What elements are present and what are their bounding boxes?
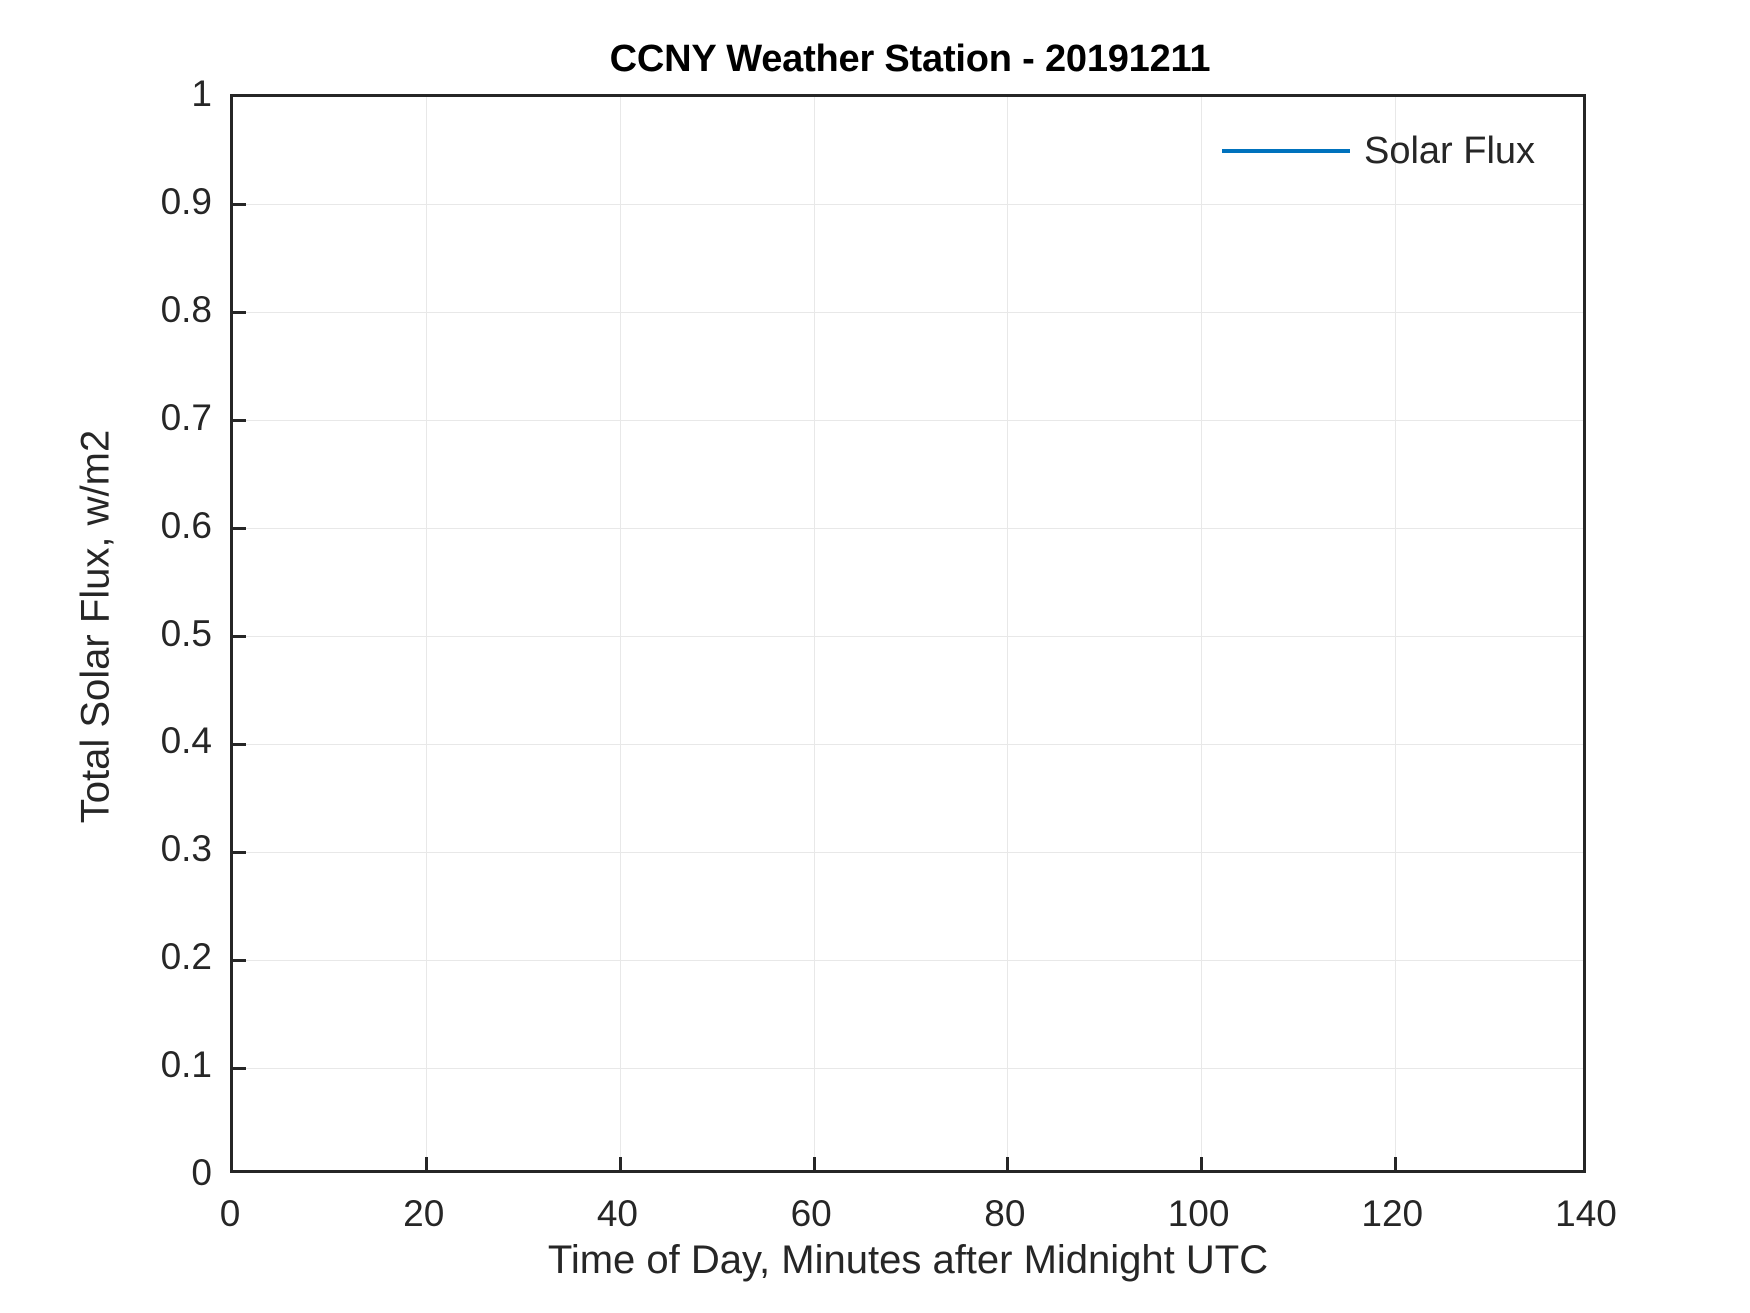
x-axis-tick: [619, 1157, 622, 1170]
x-tick-label: 120: [1292, 1195, 1492, 1232]
y-tick-label: 1: [12, 75, 212, 112]
y-tick-label: 0.8: [12, 291, 212, 328]
y-tick-label: 0.9: [12, 183, 212, 220]
x-tick-label: 60: [711, 1195, 911, 1232]
x-axis-tick: [425, 1157, 428, 1170]
x-axis-tick: [1394, 1157, 1397, 1170]
x-tick-label: 80: [905, 1195, 1105, 1232]
y-axis-tick: [233, 1067, 246, 1070]
plot-area: [230, 94, 1586, 1173]
x-tick-label: 100: [1099, 1195, 1299, 1232]
y-tick-label: 0.3: [12, 830, 212, 867]
legend-label-solar-flux: Solar Flux: [1364, 132, 1535, 170]
y-tick-label: 0.4: [12, 722, 212, 759]
x-tick-label: 0: [130, 1195, 330, 1232]
y-tick-label: 0: [12, 1154, 212, 1191]
y-tick-label: 0.6: [12, 507, 212, 544]
chart-title: CCNY Weather Station - 20191211: [230, 38, 1590, 81]
legend-line-swatch-solar-flux: [1222, 149, 1350, 153]
y-axis-tick: [233, 635, 246, 638]
y-tick-label: 0.2: [12, 938, 212, 975]
x-tick-label: 140: [1486, 1195, 1686, 1232]
y-tick-label: 0.5: [12, 615, 212, 652]
x-axis-tick: [813, 1157, 816, 1170]
y-axis-tick: [233, 527, 246, 530]
data-series-layer: [233, 97, 1583, 1170]
y-axis-tick: [233, 743, 246, 746]
y-tick-label: 0.7: [12, 399, 212, 436]
chart-figure: CCNY Weather Station - 20191211 Total So…: [0, 0, 1750, 1313]
y-axis-tick: [233, 419, 246, 422]
y-axis-tick: [233, 311, 246, 314]
y-axis-tick: [233, 959, 246, 962]
y-tick-label: 0.1: [12, 1046, 212, 1083]
x-tick-label: 20: [324, 1195, 524, 1232]
x-tick-label: 40: [517, 1195, 717, 1232]
y-axis-tick: [233, 203, 246, 206]
y-axis-tick: [233, 851, 246, 854]
x-axis-label: Time of Day, Minutes after Midnight UTC: [230, 1238, 1586, 1283]
x-axis-tick: [1006, 1157, 1009, 1170]
x-axis-tick: [1200, 1157, 1203, 1170]
legend[interactable]: Solar Flux: [1222, 120, 1535, 182]
